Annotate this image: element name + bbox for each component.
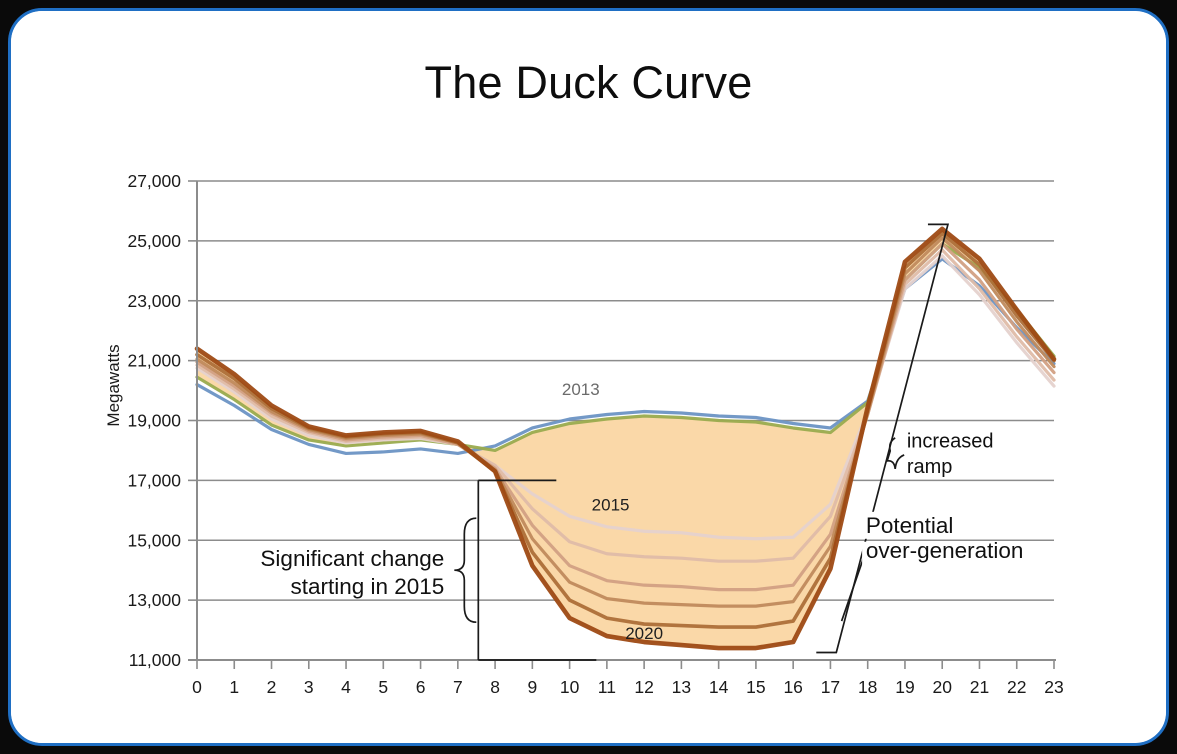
x-tick-label: 5	[378, 677, 388, 697]
potential-over-generation-leader	[842, 557, 864, 621]
y-tick-label: 23,000	[127, 291, 181, 311]
page-title: The Duck Curve	[11, 57, 1166, 109]
x-tick-label: 3	[304, 677, 314, 697]
series-label-2020: 2020	[625, 624, 663, 643]
x-tick-label: 0	[192, 677, 202, 697]
x-axis-ticks: 01234567891011121314151617181920212223	[192, 660, 1064, 697]
x-tick-label: 13	[672, 677, 691, 697]
potential-over-generation-line2: over-generation	[866, 538, 1024, 563]
x-tick-label: 23	[1044, 677, 1063, 697]
series-label-2015: 2015	[592, 495, 630, 514]
increased-ramp-brace	[887, 438, 904, 469]
significant-change-line1: Significant change	[260, 546, 444, 571]
potential-over-generation-line1: Potential	[866, 513, 954, 538]
x-tick-label: 20	[932, 677, 952, 697]
y-tick-label: 17,000	[127, 470, 181, 490]
x-tick-label: 2	[267, 677, 277, 697]
slide-canvas: The Duck Curve 11,00013,00015,00017,0001…	[11, 11, 1166, 743]
x-tick-label: 18	[858, 677, 877, 697]
x-tick-label: 15	[746, 677, 765, 697]
x-tick-label: 22	[1007, 677, 1026, 697]
x-tick-label: 4	[341, 677, 351, 697]
y-tick-label: 21,000	[127, 351, 181, 371]
y-tick-label: 19,000	[127, 411, 181, 431]
x-tick-label: 11	[598, 677, 616, 697]
y-tick-label: 13,000	[127, 590, 181, 610]
x-tick-label: 16	[783, 677, 802, 697]
x-tick-label: 1	[229, 677, 239, 697]
slide-frame: The Duck Curve 11,00013,00015,00017,0001…	[8, 8, 1169, 746]
x-tick-label: 21	[970, 677, 989, 697]
x-tick-label: 8	[490, 677, 500, 697]
x-tick-label: 9	[527, 677, 537, 697]
y-tick-label: 27,000	[127, 171, 181, 191]
increased-ramp-line2: ramp	[907, 456, 953, 478]
x-tick-label: 19	[895, 677, 914, 697]
duck-curve-chart: 11,00013,00015,00017,00019,00021,00023,0…	[11, 131, 1169, 731]
x-tick-label: 7	[453, 677, 463, 697]
x-tick-label: 17	[821, 677, 840, 697]
y-axis-title-text: Megawatts	[104, 344, 123, 426]
y-tick-label: 11,000	[129, 650, 181, 670]
increased-ramp-line1: increased	[907, 430, 994, 452]
x-tick-label: 14	[709, 677, 729, 697]
series-label-2013: 2013	[562, 380, 600, 399]
y-axis-ticks: 11,00013,00015,00017,00019,00021,00023,0…	[127, 171, 197, 670]
chart-svg: 11,00013,00015,00017,00019,00021,00023,0…	[11, 131, 1169, 731]
y-axis-title: Megawatts	[104, 344, 123, 426]
y-tick-label: 15,000	[127, 530, 181, 550]
x-tick-label: 10	[560, 677, 580, 697]
x-tick-label: 12	[634, 677, 653, 697]
significant-change-brace	[454, 518, 476, 622]
significant-change-line2: starting in 2015	[290, 574, 444, 599]
y-tick-label: 25,000	[127, 231, 181, 251]
x-tick-label: 6	[416, 677, 426, 697]
